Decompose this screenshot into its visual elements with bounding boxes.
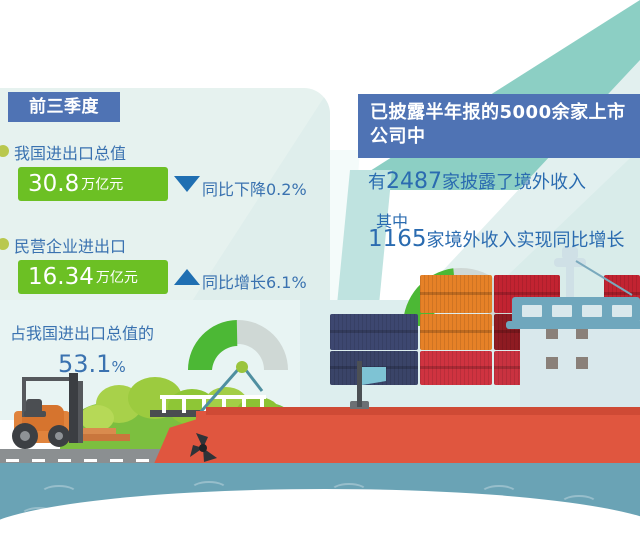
triangle-up-icon xyxy=(174,269,200,285)
ship-deck xyxy=(206,407,640,415)
left-item-value-1: 30.8 xyxy=(28,173,79,196)
right-line3-number: 1165 xyxy=(368,226,427,252)
right-line3-suffix: 家境外收入实现同比增长 xyxy=(427,230,625,251)
right-line-1: 有2487家披露了境外收入 xyxy=(368,168,586,194)
share-percent: 53.1% xyxy=(58,350,126,378)
share-percent-symbol: % xyxy=(111,358,125,376)
left-panel-header: 前三季度 xyxy=(8,92,120,122)
left-item-label-1: 我国进出口总值 xyxy=(14,140,126,164)
right-line-3: 1165家境外收入实现同比增长 xyxy=(368,226,625,252)
left-item-unit-1: 万亿元 xyxy=(81,174,123,194)
infographic-canvas: 前三季度 我国进出口总值 30.8 万亿元 同比下降0.2% 民营企业进出口 1… xyxy=(0,0,640,535)
right-line1-number: 2487 xyxy=(386,169,442,194)
shipping-container xyxy=(420,275,492,313)
right-panel-header: 已披露半年报的5000余家上市公司中 xyxy=(358,94,640,158)
shipping-container xyxy=(330,314,418,350)
triangle-down-icon xyxy=(174,176,200,192)
left-item-label-2: 民营企业进出口 xyxy=(14,233,126,257)
right-line1-suffix: 家披露了境外收入 xyxy=(442,172,586,193)
left-item-unit-2: 万亿元 xyxy=(96,267,138,287)
left-item-comparison-2: 同比增长6.1% xyxy=(202,269,307,293)
left-item-comparison-1: 同比下降0.2% xyxy=(202,176,307,200)
share-percent-value: 53.1 xyxy=(58,350,111,378)
propeller-icon xyxy=(188,431,218,465)
right-line1-prefix: 有 xyxy=(368,172,386,193)
shipping-container xyxy=(420,314,492,350)
left-item-value-2: 16.34 xyxy=(28,266,94,289)
shipping-container xyxy=(420,351,492,385)
share-label: 占我国进出口总值的 xyxy=(10,320,154,344)
left-item-value-box-2: 16.34 万亿元 xyxy=(18,260,168,294)
left-item-value-box-1: 30.8 万亿元 xyxy=(18,167,168,201)
